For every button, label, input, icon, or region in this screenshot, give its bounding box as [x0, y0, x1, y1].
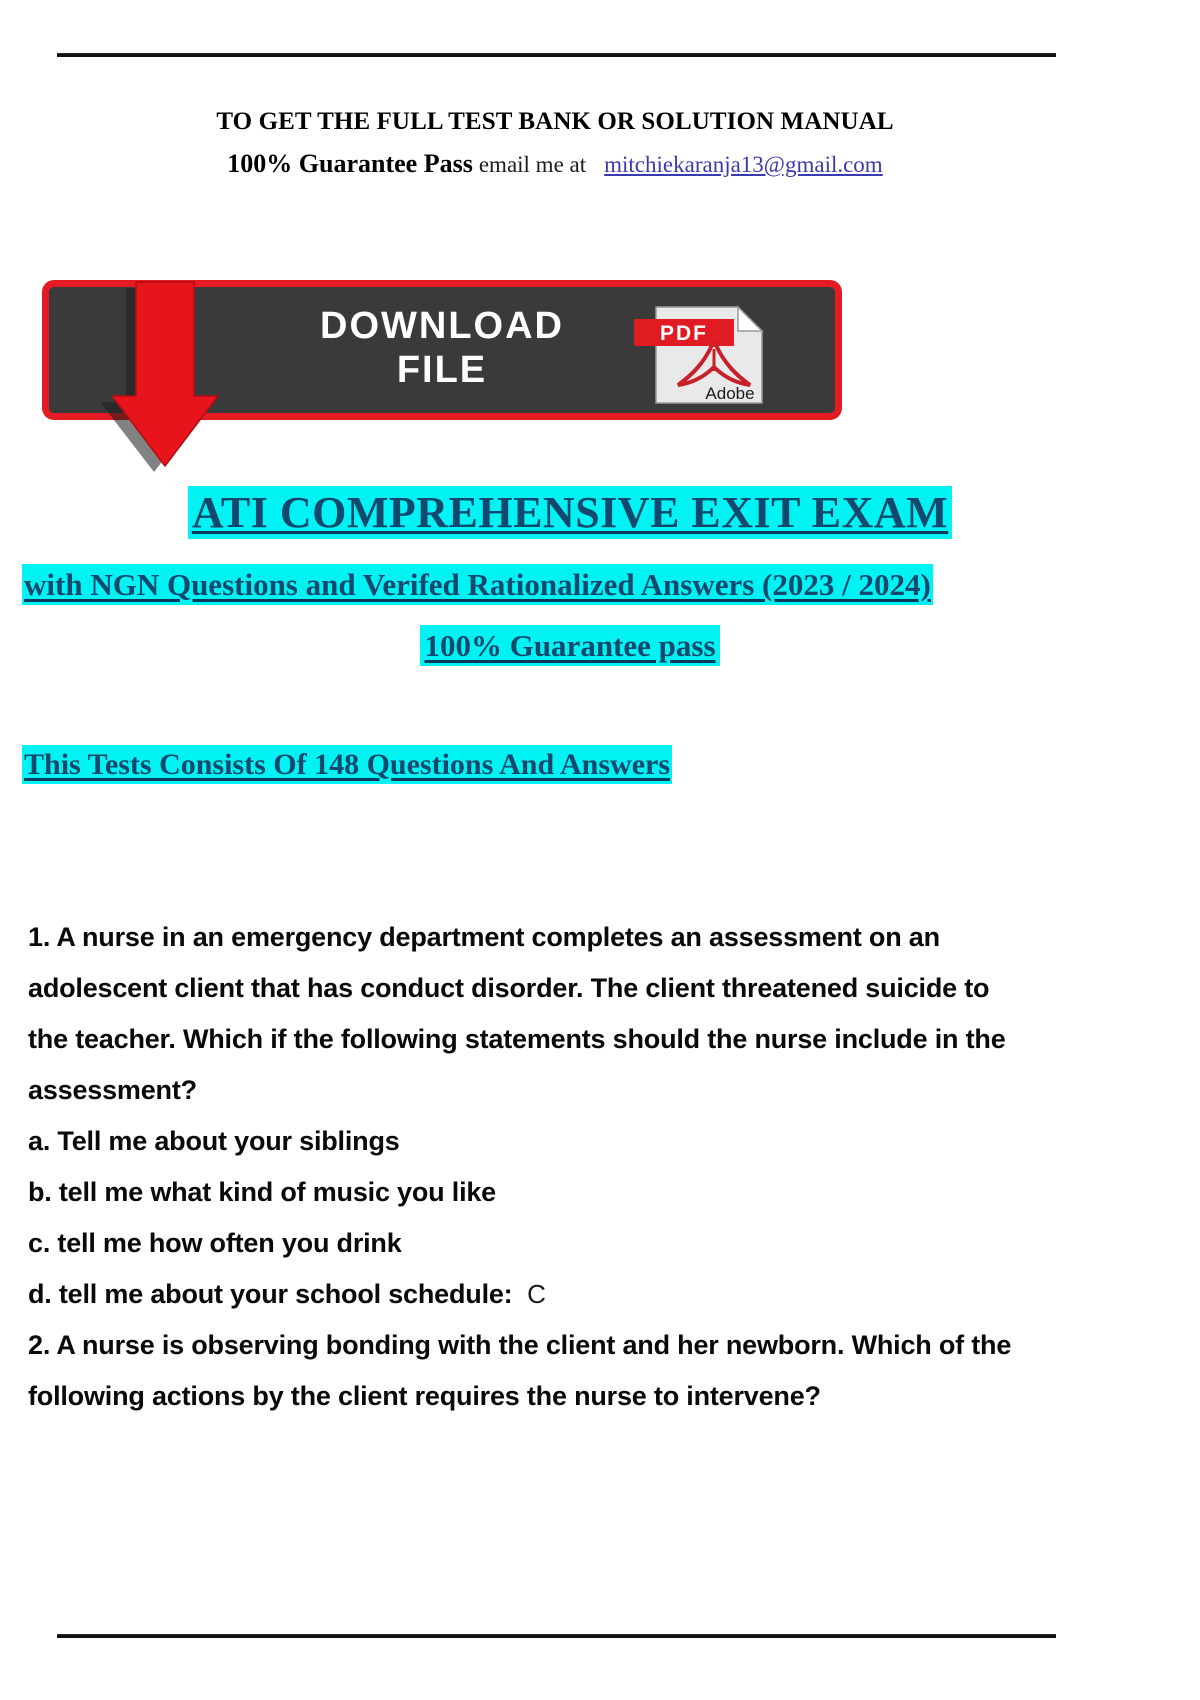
exam-guarantee-text: 100% Guarantee pass: [420, 625, 719, 666]
download-banner-label: DOWNLOAD FILE: [252, 304, 632, 392]
exam-title: ATI COMPREHENSIVE EXIT EXAM: [0, 487, 1140, 538]
download-label-line2: FILE: [252, 348, 632, 392]
exam-title-text: ATI COMPREHENSIVE EXIT EXAM: [188, 486, 952, 539]
down-arrow-icon: [110, 280, 220, 470]
svg-text:Adobe: Adobe: [705, 384, 754, 403]
q2-stem-line-2: following actions by the client requires…: [28, 1371, 1200, 1422]
header-contact-line: 100% Guarantee Pass email me at mitchiek…: [0, 149, 1110, 179]
download-file-banner[interactable]: DOWNLOAD FILE PDF Adobe: [42, 280, 842, 420]
exam-guarantee-line: 100% Guarantee pass: [0, 628, 1140, 664]
download-label-line1: DOWNLOAD: [252, 304, 632, 348]
exam-subtitle-text: with NGN Questions and Verifed Rationali…: [22, 564, 933, 605]
header-divider-top: [57, 53, 1056, 57]
footer-divider-bottom: [57, 1634, 1056, 1638]
q1-option-c: c. tell me how often you drink: [28, 1218, 1200, 1269]
exam-question-count-line: This Tests Consists Of 148 Questions And…: [22, 748, 1200, 782]
q1-stem-line-1: 1. A nurse in an emergency department co…: [28, 912, 1200, 963]
q1-option-b: b. tell me what kind of music you like: [28, 1167, 1200, 1218]
header-email-link[interactable]: mitchiekaranja13@gmail.com: [604, 152, 883, 177]
exam-question-count-text: This Tests Consists Of 148 Questions And…: [22, 745, 672, 784]
q1-answer-key: C: [527, 1279, 546, 1309]
header-guarantee-label: 100% Guarantee Pass: [227, 149, 473, 178]
q1-option-d-text: d. tell me about your school schedule:: [28, 1279, 512, 1309]
q1-option-d: d. tell me about your school schedule: C: [28, 1269, 1200, 1320]
document-page: TO GET THE FULL TEST BANK OR SOLUTION MA…: [0, 0, 1200, 1700]
q1-stem-line-4: assessment?: [28, 1065, 1200, 1116]
question-body: 1. A nurse in an emergency department co…: [28, 912, 1200, 1422]
pdf-file-icon: PDF Adobe: [634, 305, 766, 405]
q1-stem-line-2: adolescent client that has conduct disor…: [28, 963, 1200, 1014]
header-email-prefix: email me at: [479, 152, 586, 177]
header-title-line: TO GET THE FULL TEST BANK OR SOLUTION MA…: [0, 108, 1110, 136]
q2-stem-line-1: 2. A nurse is observing bonding with the…: [28, 1320, 1200, 1371]
exam-subtitle: with NGN Questions and Verifed Rationali…: [22, 567, 1200, 603]
q1-stem-line-3: the teacher. Which if the following stat…: [28, 1014, 1200, 1065]
document-header: TO GET THE FULL TEST BANK OR SOLUTION MA…: [0, 108, 1110, 179]
svg-text:PDF: PDF: [660, 322, 708, 345]
q1-option-a: a. Tell me about your siblings: [28, 1116, 1200, 1167]
